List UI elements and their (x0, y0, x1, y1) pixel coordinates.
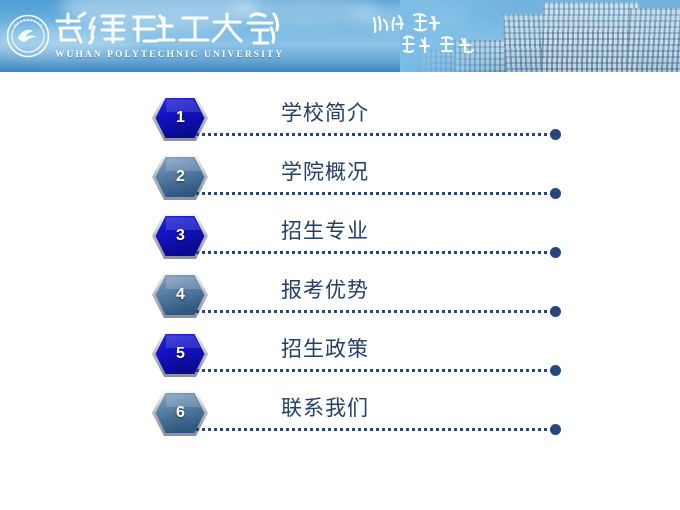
header-banner: WUHAN POLYTECHNIC UNIVERSITY (0, 0, 680, 72)
connector-end-dot (550, 188, 561, 199)
agenda-row[interactable]: 6 联系我们 (0, 386, 680, 445)
agenda-row[interactable]: 5 招生政策 (0, 327, 680, 386)
connector-end-dot (550, 247, 561, 258)
agenda-label[interactable]: 学校简介 (281, 97, 369, 127)
agenda-row[interactable]: 2 学院概况 (0, 150, 680, 209)
agenda-list: 1 学校简介 (0, 72, 680, 510)
dotted-connector (196, 251, 552, 254)
dotted-connector (196, 310, 552, 313)
agenda-label[interactable]: 学院概况 (281, 156, 369, 186)
dotted-connector (196, 192, 552, 195)
agenda-row[interactable]: 1 学校简介 (0, 91, 680, 150)
motto-calligraphy (370, 8, 490, 60)
dotted-connector (196, 133, 552, 136)
connector-end-dot (550, 129, 561, 140)
agenda-label[interactable]: 联系我们 (281, 392, 369, 422)
school-name-en: WUHAN POLYTECHNIC UNIVERSITY (55, 50, 284, 60)
university-seal-icon (6, 14, 50, 58)
connector-end-dot (550, 365, 561, 376)
agenda-row[interactable]: 4 报考优势 (0, 268, 680, 327)
agenda-label[interactable]: 招生专业 (281, 215, 369, 245)
agenda-label[interactable]: 招生政策 (281, 333, 369, 363)
agenda-slide: WUHAN POLYTECHNIC UNIVERSITY (0, 0, 680, 510)
connector-end-dot (550, 424, 561, 435)
agenda-row[interactable]: 3 招生专业 (0, 209, 680, 268)
agenda-label[interactable]: 报考优势 (281, 274, 369, 304)
connector-end-dot (550, 306, 561, 317)
school-name-wordmark (52, 8, 302, 52)
dotted-connector (196, 369, 552, 372)
dotted-connector (196, 428, 552, 431)
